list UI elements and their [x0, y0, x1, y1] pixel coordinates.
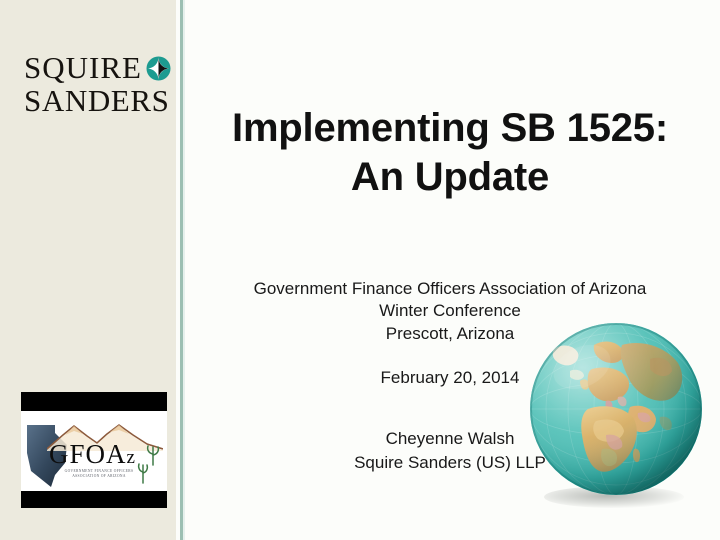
gfoaz-subtitle: Government Finance Officers Association …	[54, 469, 144, 480]
slide-title-line-1: Implementing SB 1525:	[190, 104, 710, 153]
gfoaz-subtitle-line-2: Association of Arizona	[72, 474, 126, 478]
gfoaz-wordmark-main: GFOA	[49, 439, 127, 469]
globe-landmasses	[530, 323, 702, 495]
squire-sanders-logo: SQUIRE SANDERS	[24, 52, 164, 116]
subtitle-line-organization: Government Finance Officers Association …	[190, 278, 710, 300]
gfoaz-subtitle-line-1: Government Finance Officers	[65, 469, 134, 473]
slide-title-line-2: An Update	[190, 153, 710, 202]
firm-logo-word-sanders: SANDERS	[24, 85, 164, 116]
gfoaz-wordmark: GFOAz	[49, 441, 136, 468]
firm-logo-line-1: SQUIRE	[24, 52, 164, 83]
saguaro-cactus-graphic-icon	[135, 443, 163, 487]
firm-logo-word-squire: SQUIRE	[24, 52, 142, 83]
gfoaz-logo: GFOAz Government Finance Officers Associ…	[21, 392, 167, 508]
globe-sphere	[530, 323, 702, 495]
gfoaz-logo-panel: GFOAz Government Finance Officers Associ…	[21, 411, 167, 491]
sidebar-divider-highlight	[183, 0, 185, 540]
squire-sanders-diamond-mark-icon	[146, 55, 171, 80]
presentation-slide: SQUIRE SANDERS	[0, 0, 720, 540]
world-globe-image	[524, 318, 708, 522]
slide-title: Implementing SB 1525: An Update	[190, 104, 710, 202]
